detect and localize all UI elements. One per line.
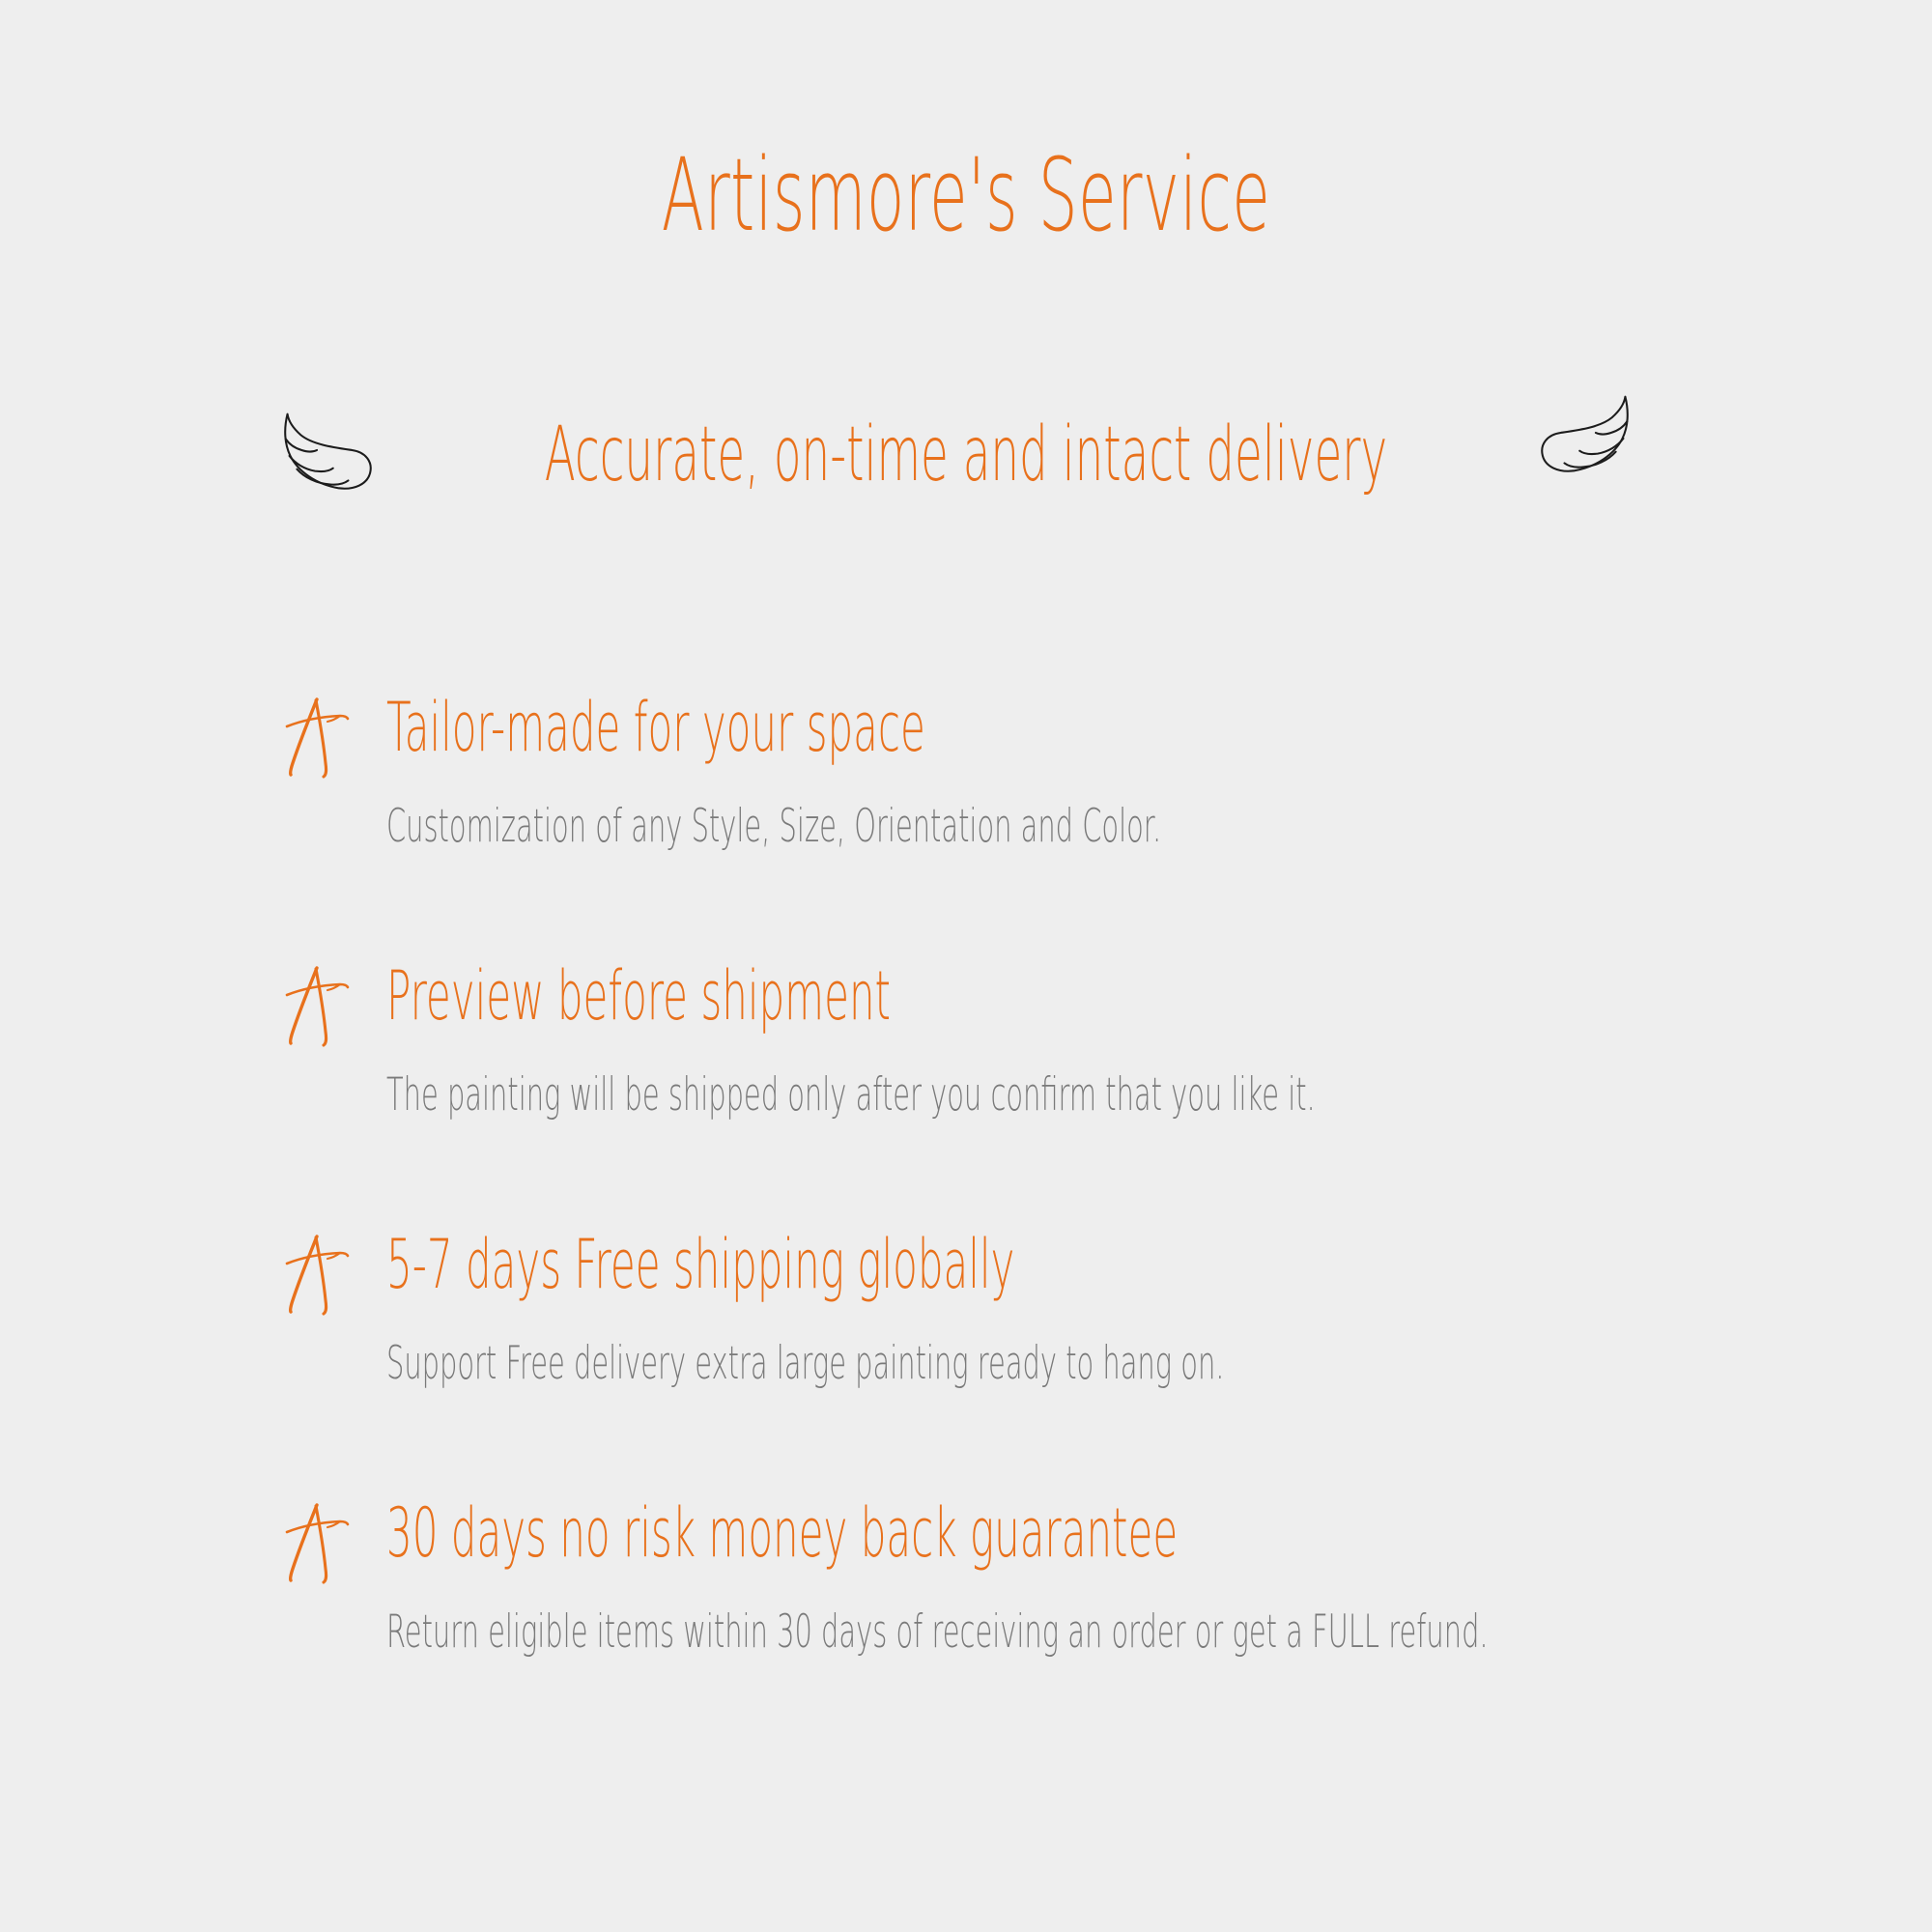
feature-title: 5-7 days Free shipping globally (386, 1231, 1279, 1306)
handwritten-a-icon (280, 1233, 354, 1316)
feature-description: Return eligible items within 30 days of … (386, 1609, 1301, 1655)
feature-body: Preview before shipment The painting wil… (386, 962, 1874, 1118)
feature-title: Preview before shipment (386, 962, 1279, 1037)
feature-description: The painting will be shipped only after … (386, 1072, 1301, 1118)
feature-row: Tailor-made for your space Customization… (0, 694, 1932, 962)
feature-description: Support Free delivery extra large painti… (386, 1341, 1301, 1386)
handwritten-a-icon (280, 964, 354, 1047)
feature-title: Tailor-made for your space (386, 694, 1279, 769)
features-list: Tailor-made for your space Customization… (0, 694, 1932, 1768)
service-info-page: Artismore's Service Accurate, on-time an… (0, 0, 1932, 1932)
wing-right-icon (1536, 384, 1650, 481)
page-title: Artismore's Service (367, 143, 1565, 248)
feature-body: Tailor-made for your space Customization… (386, 694, 1874, 849)
tagline-text: Accurate, on-time and intact delivery (386, 417, 1546, 493)
handwritten-a-icon (280, 1501, 354, 1584)
feature-body: 30 days no risk money back guarantee Ret… (386, 1499, 1874, 1655)
feature-description: Customization of any Style, Size, Orient… (386, 804, 1301, 849)
feature-body: 5-7 days Free shipping globally Support … (386, 1231, 1874, 1386)
feature-row: 30 days no risk money back guarantee Ret… (0, 1499, 1932, 1768)
wing-left-icon (263, 402, 377, 498)
feature-row: Preview before shipment The painting wil… (0, 962, 1932, 1231)
feature-title: 30 days no risk money back guarantee (386, 1499, 1279, 1575)
feature-row: 5-7 days Free shipping globally Support … (0, 1231, 1932, 1499)
tagline-row: Accurate, on-time and intact delivery (0, 417, 1932, 533)
handwritten-a-icon (280, 696, 354, 779)
